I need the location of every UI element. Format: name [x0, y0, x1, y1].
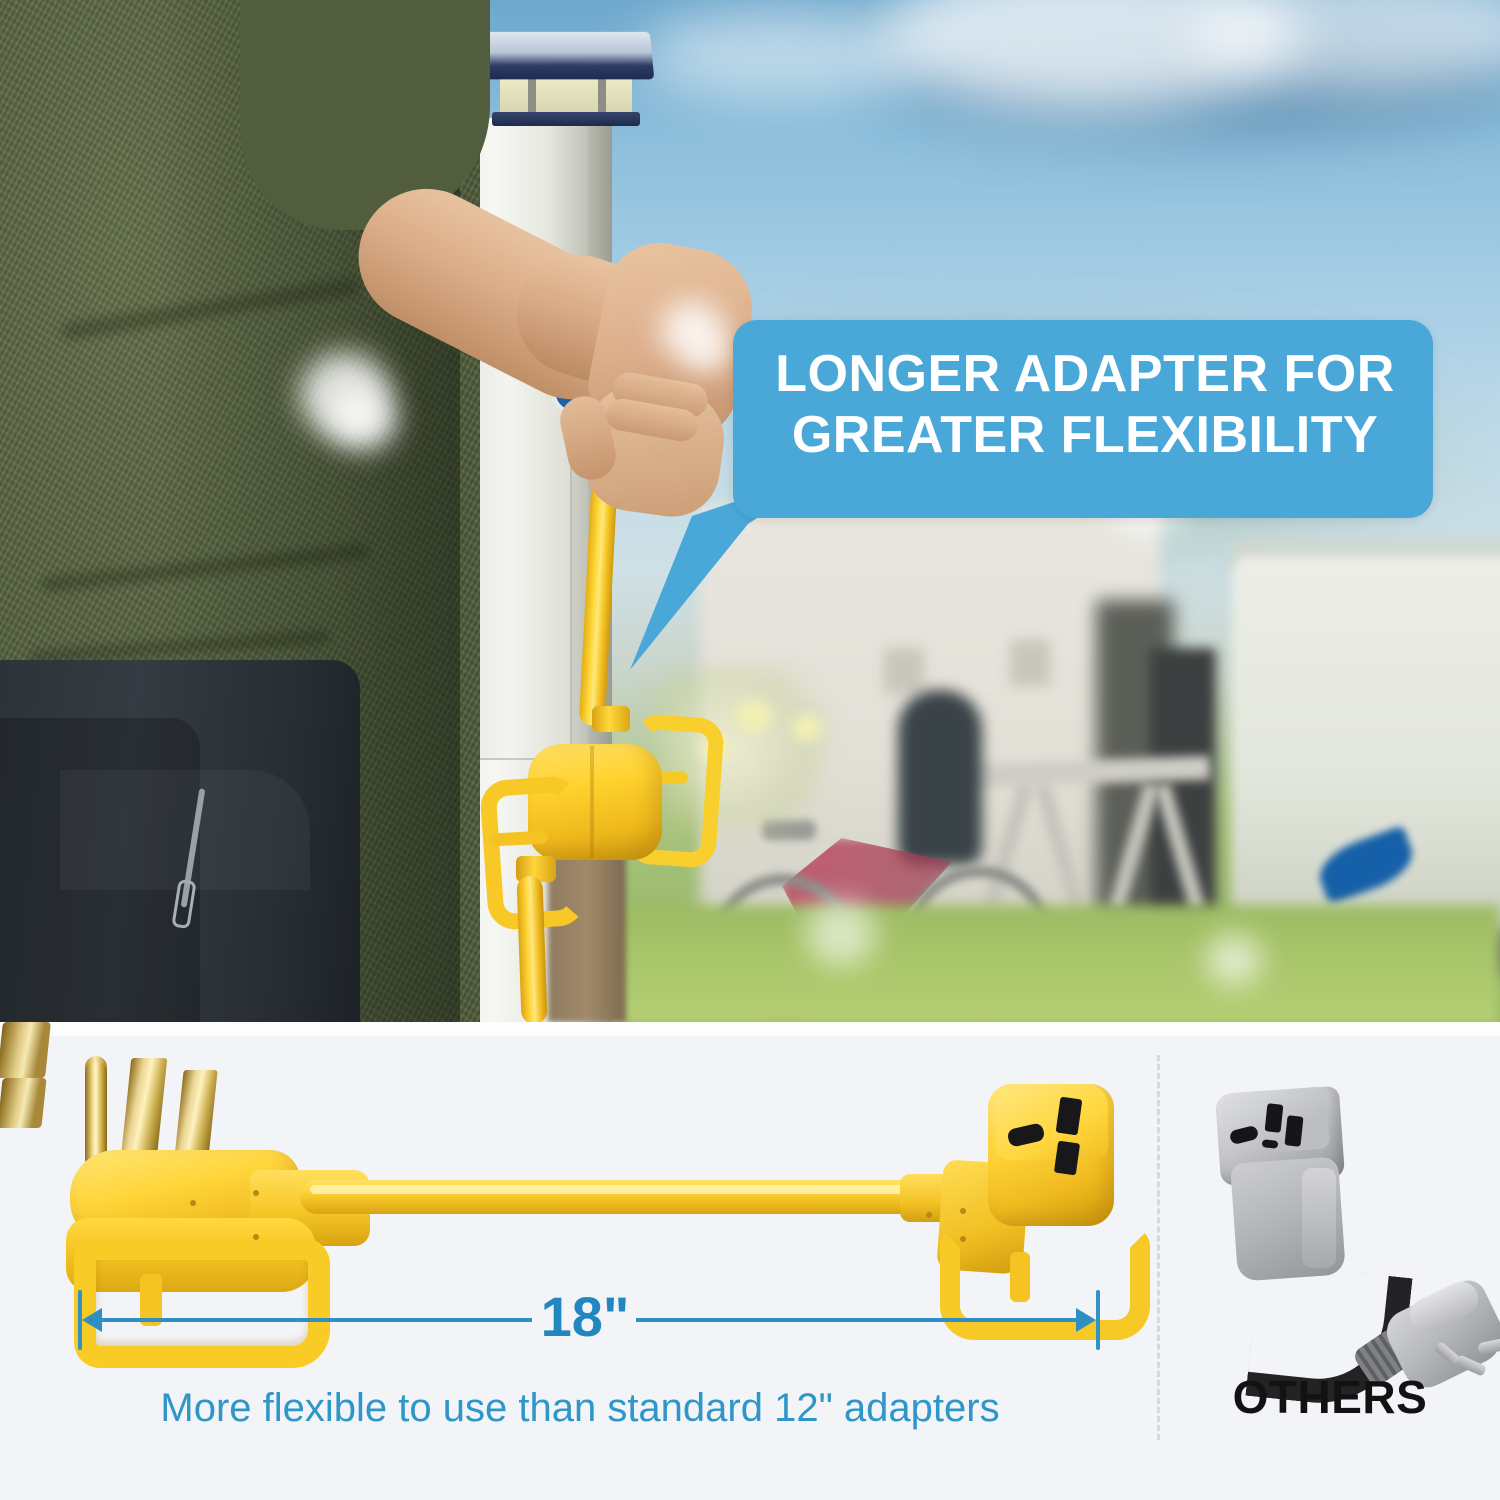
- callout-text: LONGER ADAPTER FOR GREATER FLEXIBILITY: [755, 344, 1415, 467]
- pedestal-cap: [476, 32, 655, 80]
- bokeh-light: [330, 390, 396, 450]
- dimension-tick-right: [1096, 1290, 1100, 1350]
- seam-dot: [960, 1208, 966, 1214]
- callout-bubble: LONGER ADAPTER FOR GREATER FLEXIBILITY: [733, 320, 1433, 518]
- adapter-seam: [590, 746, 594, 858]
- house-window: [884, 648, 924, 694]
- dimension-measure: 18": [0, 1282, 1160, 1362]
- bokeh-light: [806, 900, 876, 966]
- dimension-line-left: [92, 1318, 532, 1322]
- others-body-rib: [1302, 1168, 1336, 1268]
- bokeh-light: [1206, 934, 1262, 986]
- seam-dot: [253, 1234, 259, 1240]
- others-label: OTHERS: [1160, 1370, 1500, 1424]
- yellow-adapter-product: [0, 1022, 1160, 1322]
- adapter-collar: [592, 706, 630, 732]
- comparison-caption: More flexible to use than standard 12" a…: [0, 1386, 1160, 1431]
- others-slot-neutral: [1262, 1139, 1279, 1149]
- seam-dot: [253, 1190, 259, 1196]
- flower: [736, 700, 772, 732]
- others-slot-hot: [1265, 1103, 1284, 1133]
- cable-highlight: [310, 1185, 910, 1194]
- lamp-base: [492, 112, 640, 126]
- others-slot-hot-2: [1284, 1115, 1303, 1147]
- seam-dot: [926, 1212, 932, 1218]
- house-window: [1010, 640, 1050, 686]
- background-rv: [1232, 556, 1500, 956]
- callout-line-1: LONGER ADAPTER FOR: [755, 344, 1415, 405]
- female-receptacle-face: [996, 1084, 1108, 1160]
- callout-line-2: GREATER FLEXIBILITY: [755, 405, 1415, 466]
- adapter-cable-lower: [516, 876, 547, 1022]
- bokeh-light: [686, 332, 728, 372]
- receptacle-slot-neutral: [1054, 1141, 1080, 1176]
- dimension-line-right: [636, 1318, 1086, 1322]
- seated-person: [898, 690, 982, 865]
- flat-blade-prong-shoulder: [0, 1078, 47, 1128]
- others-comparison: OTHERS: [1160, 1022, 1500, 1500]
- flat-blade-prong-shoulder: [0, 1022, 51, 1078]
- flower: [792, 714, 822, 742]
- cloud: [640, 10, 920, 100]
- seam-dot: [960, 1236, 966, 1242]
- dimension-label: 18": [520, 1284, 650, 1349]
- product-marketing-image: LONGER ADAPTER FOR GREATER FLEXIBILITY: [0, 0, 1500, 1500]
- pants-pocket: [60, 770, 310, 890]
- seam-dot: [190, 1200, 196, 1206]
